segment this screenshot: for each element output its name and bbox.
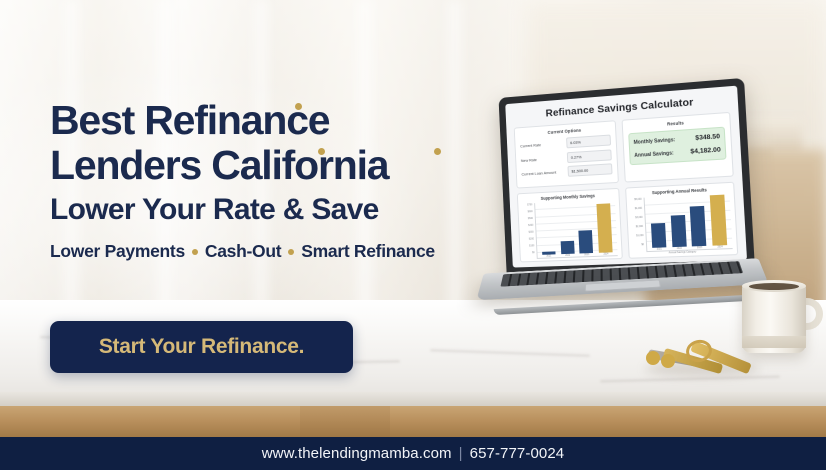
key-head bbox=[646, 351, 660, 365]
y-tick-label: $0 bbox=[633, 244, 644, 247]
bar-group: 2022 bbox=[558, 201, 574, 257]
bullet-dot-icon bbox=[288, 249, 294, 255]
bar bbox=[651, 223, 667, 247]
bar bbox=[542, 252, 556, 255]
bullet-dot-icon bbox=[192, 249, 198, 255]
bar-x-label: 2024 bbox=[603, 253, 608, 255]
bar bbox=[560, 241, 574, 254]
chart-annual-yaxis: $5,000$4,000$3,000$2,000$1,000$0 bbox=[631, 197, 645, 252]
wood-table-front bbox=[0, 406, 826, 440]
bar-x-label: 2023 bbox=[697, 247, 702, 249]
headline-line-1: Best Refinance bbox=[50, 98, 470, 143]
field-new-rate: New Rate 0.27% bbox=[521, 149, 612, 166]
laptop-lid: Refinance Savings Calculator Current Opt… bbox=[499, 78, 755, 277]
bar-x-label: 2021 bbox=[546, 255, 551, 257]
bar-group: 2021 bbox=[649, 196, 666, 250]
laptop-screen: Refinance Savings Calculator Current Opt… bbox=[505, 86, 747, 268]
laptop-trackpad[interactable] bbox=[584, 280, 660, 292]
benefit-item-2: Smart Refinance bbox=[301, 241, 435, 262]
benefit-item-0: Lower Payments bbox=[50, 241, 185, 262]
subheadline: Lower Your Rate & Save bbox=[50, 192, 470, 228]
y-tick-label: $2,000 bbox=[632, 225, 643, 228]
benefit-item-1: Cash-Out bbox=[205, 241, 281, 262]
bar-x-label: 2023 bbox=[584, 254, 589, 256]
bar bbox=[596, 204, 612, 253]
chart-annual-bars: 2021202220232024 bbox=[645, 193, 733, 251]
y-tick-label: $700 bbox=[522, 203, 532, 206]
y-tick-label: $5,000 bbox=[631, 197, 642, 201]
chart-annual-plot: 2021202220232024 bbox=[644, 193, 733, 252]
laptop-front-edge bbox=[494, 295, 753, 315]
current-options-panel: Current Options Current Rate 6.03% New R… bbox=[514, 120, 619, 188]
refinance-calculator-app: Refinance Savings Calculator Current Opt… bbox=[505, 86, 747, 268]
current-rate-input[interactable]: 6.03% bbox=[566, 135, 611, 149]
headline-line-2: Lenders California bbox=[50, 143, 470, 188]
wood-table-leg bbox=[300, 406, 390, 440]
footer-phone[interactable]: 657-777-0024 bbox=[470, 445, 565, 462]
headline-line-2-text: Lenders California bbox=[50, 142, 388, 188]
bar-x-label: 2024 bbox=[717, 246, 722, 248]
chart-annual-results: Supporting Annual Results $5,000$4,000$3… bbox=[625, 181, 738, 259]
annual-savings-value: $4,182.00 bbox=[690, 146, 721, 155]
y-tick-label: $600 bbox=[522, 210, 532, 213]
bar bbox=[670, 215, 686, 247]
bar-group: 2023 bbox=[577, 200, 594, 256]
bar-x-label: 2022 bbox=[677, 247, 682, 249]
bar bbox=[710, 194, 728, 245]
y-tick-label: $0 bbox=[524, 251, 534, 254]
bar-group: 2024 bbox=[596, 199, 613, 255]
benefits-list: Lower Payments Cash-Out Smart Refinance bbox=[50, 241, 470, 262]
result-row-monthly-savings: Monthly Savings: $348.50 bbox=[633, 133, 720, 146]
chart-monthly-savings: Supporting Monthly Savings $700$600$500$… bbox=[517, 187, 623, 262]
monthly-savings-label: Monthly Savings: bbox=[633, 137, 675, 146]
chart-monthly-yaxis: $700$600$500$400$300$200$100$0 bbox=[522, 203, 535, 259]
footer-website[interactable]: www.thelendingmamba.com bbox=[262, 445, 452, 462]
start-your-refinance-button[interactable]: Start Your Refinance. bbox=[50, 321, 353, 373]
charts-row: Supporting Monthly Savings $700$600$500$… bbox=[517, 181, 738, 262]
y-tick-label: $400 bbox=[523, 223, 533, 226]
monthly-savings-value: $348.50 bbox=[695, 133, 720, 142]
bar bbox=[579, 230, 594, 253]
new-rate-input[interactable]: 0.27% bbox=[567, 149, 612, 163]
chart-monthly-plot: 2021202220232024 bbox=[534, 199, 618, 259]
bar-x-label: 2021 bbox=[657, 248, 662, 250]
mug-base-band bbox=[742, 336, 806, 348]
gold-dot-icon bbox=[434, 148, 441, 155]
chart-monthly-bars: 2021202220232024 bbox=[535, 199, 618, 258]
y-tick-label: $500 bbox=[523, 216, 533, 219]
results-panel: Results Monthly Savings: $348.50 Annual … bbox=[622, 112, 734, 182]
footer-separator: | bbox=[459, 445, 463, 462]
cta-label: Start Your Refinance. bbox=[99, 335, 304, 359]
footer-bar: www.thelendingmamba.com | 657-777-0024 bbox=[0, 437, 826, 470]
y-tick-label: $1,000 bbox=[633, 234, 644, 237]
laptop: Refinance Savings Calculator Current Opt… bbox=[474, 81, 761, 326]
coffee-surface bbox=[749, 283, 799, 290]
y-tick-label: $300 bbox=[523, 230, 533, 233]
y-tick-label: $200 bbox=[524, 237, 534, 240]
y-tick-label: $3,000 bbox=[632, 216, 643, 220]
bar-group: 2022 bbox=[669, 195, 686, 250]
current-loan-amount-label: Current Loan Amount bbox=[521, 169, 565, 176]
bar bbox=[690, 206, 707, 246]
gold-dot-icon bbox=[318, 148, 325, 155]
key-head bbox=[661, 354, 675, 368]
headline-block: Best Refinance Lenders California Lower … bbox=[50, 98, 470, 262]
y-tick-label: $4,000 bbox=[631, 206, 642, 210]
annual-savings-label: Annual Savings: bbox=[634, 150, 674, 158]
bar-group: 2024 bbox=[710, 193, 728, 248]
headline-line-1-text: Best Refinance bbox=[50, 97, 329, 143]
gold-dot-icon bbox=[295, 103, 302, 110]
bar-group: 2023 bbox=[689, 194, 707, 249]
current-loan-amount-input[interactable]: $1,500.00 bbox=[567, 163, 612, 177]
new-rate-label: New Rate bbox=[521, 155, 565, 163]
results-highlight-box: Monthly Savings: $348.50 Annual Savings:… bbox=[628, 127, 726, 166]
bar-x-label: 2022 bbox=[565, 254, 570, 256]
field-current-loan-amount: Current Loan Amount $1,500.00 bbox=[521, 163, 612, 179]
current-rate-label: Current Rate bbox=[520, 141, 564, 149]
bar-group: 2021 bbox=[540, 202, 556, 258]
y-tick-label: $100 bbox=[524, 244, 534, 247]
result-row-annual-savings: Annual Savings: $4,182.00 bbox=[634, 146, 721, 159]
